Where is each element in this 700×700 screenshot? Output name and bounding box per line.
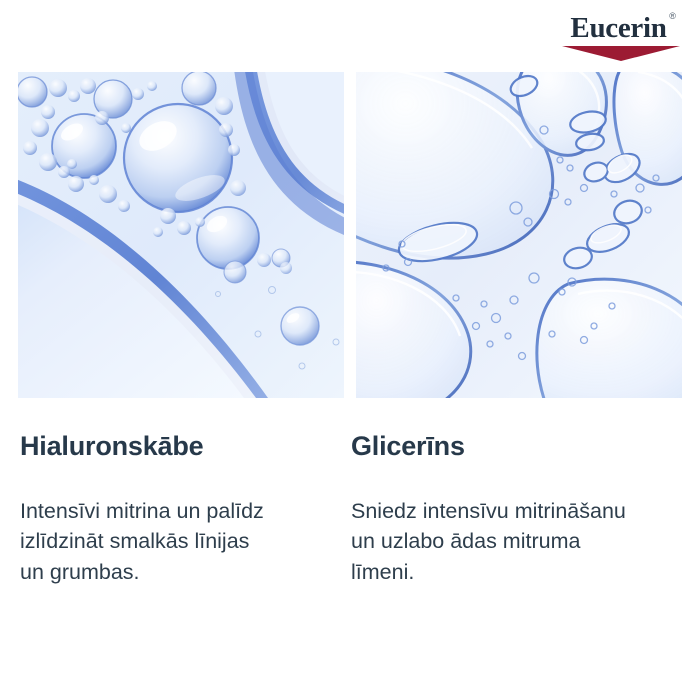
page-root: Eucerin® — [0, 0, 700, 700]
bubbles-illustration — [18, 72, 344, 398]
glycerin-image — [356, 72, 682, 398]
gel-illustration — [356, 72, 682, 398]
hyaluronic-acid-image — [18, 72, 344, 398]
eucerin-logo: Eucerin® — [562, 14, 682, 61]
column-hyaluronic-acid: Hialuronskābe Intensīvi mitrina un palīd… — [20, 432, 351, 587]
ingredient-columns: Hialuronskābe Intensīvi mitrina un palīd… — [20, 432, 682, 587]
registered-trademark-icon: ® — [669, 12, 675, 21]
brand-wordmark: Eucerin® — [570, 14, 673, 43]
image-panel-row — [18, 72, 682, 398]
brand-chevron-icon — [562, 46, 680, 61]
brand-name-text: Eucerin — [570, 12, 666, 44]
glycerin-description: Sniedz intensīvu mitrināšanu un uzlabo ā… — [351, 496, 631, 588]
column-glycerin: Glicerīns Sniedz intensīvu mitrināšanu u… — [351, 432, 682, 587]
hyaluronic-acid-description: Intensīvi mitrina un palīdz izlīdzināt s… — [20, 496, 270, 588]
glycerin-title: Glicerīns — [351, 432, 662, 462]
hyaluronic-acid-title: Hialuronskābe — [20, 432, 331, 462]
